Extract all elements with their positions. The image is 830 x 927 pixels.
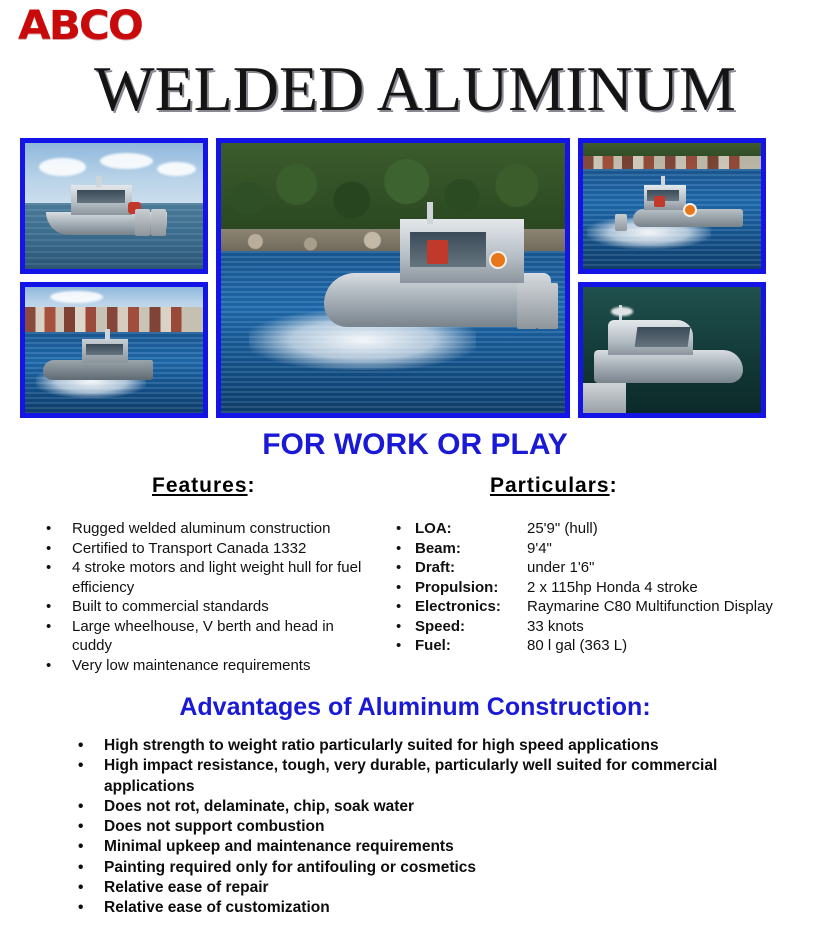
page-subtitle: FOR WORK OR PLAY [0,428,830,462]
list-item: •Certified to Transport Canada 1332 [46,539,376,559]
list-item: •High impact resistance, tough, very dur… [78,756,778,797]
feature-text: Very low maintenance requirements [72,656,376,676]
cabin-window [86,344,123,355]
spec-value: Raymarine C80 Multifunction Display [527,597,816,617]
spec-label: Beam: [415,539,527,559]
spec-value: 80 l gal (363 L) [527,636,816,656]
person-figure [654,196,665,207]
photo-scene [583,143,761,269]
spec-value: 9'4" [527,539,816,559]
spec-value: 25'9" (hull) [527,519,816,539]
dock-edge [583,383,626,413]
photo-scene [25,287,203,413]
spec-label: Speed: [415,617,527,637]
photo-boat-moored-twin-outboards [20,138,208,274]
particulars-list: •LOA:25'9" (hull) •Beam: 9'4" •Draft:und… [396,519,816,656]
spec-label: Draft: [415,558,527,578]
advantage-text: Relative ease of repair [104,878,778,898]
photo-scene [25,143,203,269]
bullet-icon: • [46,558,72,578]
features-heading-colon: : [248,474,255,497]
page-title: WELDED ALUMINUM [0,56,830,122]
features-heading-word: Features [152,474,248,497]
list-item: •Does not support combustion [78,817,778,837]
list-item: •Relative ease of repair [78,878,778,898]
spec-value: under 1'6" [527,558,816,578]
advantage-text: Relative ease of customization [104,898,778,918]
cabin-window [77,190,125,204]
collage-column-center [216,138,570,418]
outboard-motor [615,214,627,232]
advantage-text: Does not support combustion [104,817,778,837]
list-item: •High strength to weight ratio particula… [78,736,778,756]
list-item: •Very low maintenance requirements [46,656,376,676]
abco-logo: ABCO [18,4,142,48]
photo-collage [20,138,782,418]
advantage-text: High strength to weight ratio particular… [104,736,778,756]
cloud-shape [157,162,196,176]
spec-row: •Beam: 9'4" [396,539,816,559]
feature-text: Large wheelhouse, V berth and head in cu… [72,617,376,656]
list-item: •Painting required only for antifouling … [78,858,778,878]
advantage-text: Painting required only for antifouling o… [104,858,778,878]
bullet-icon: • [396,597,415,617]
bullet-icon: • [46,597,72,617]
bullet-icon: • [78,837,104,857]
list-item: •Relative ease of customization [78,898,778,918]
boat-hull [43,360,153,380]
outboard-motor [517,283,538,329]
advantages-list: •High strength to weight ratio particula… [78,736,778,919]
spec-row: •Propulsion:2 x 115hp Honda 4 stroke [396,578,816,598]
bullet-icon: • [46,539,72,559]
spec-row: •LOA:25'9" (hull) [396,519,816,539]
spec-row: •Fuel:80 l gal (363 L) [396,636,816,656]
list-item: •Minimal upkeep and maintenance requirem… [78,837,778,857]
list-item: •Built to commercial standards [46,597,376,617]
photo-boat-running-harbour-town [20,282,208,418]
spec-row: •Draft:under 1'6" [396,558,816,578]
bullet-icon: • [396,519,415,539]
bullet-icon: • [46,519,72,539]
town-shoreline [25,307,203,335]
feature-text: Rugged welded aluminum construction [72,519,376,539]
photo-boat-at-dock-bow-view [578,282,766,418]
bullet-icon: • [78,878,104,898]
cabin-window [410,232,486,267]
features-list: •Rugged welded aluminum construction •Ce… [46,519,376,675]
feature-text: Certified to Transport Canada 1332 [72,539,376,559]
antenna-mast [96,176,101,187]
advantage-text: Does not rot, delaminate, chip, soak wat… [104,797,778,817]
spec-label: Fuel: [415,636,527,656]
spec-row: •Electronics: Raymarine C80 Multifunctio… [396,597,816,617]
list-item: •Rugged welded aluminum construction [46,519,376,539]
bullet-icon: • [78,817,104,837]
list-item: •Does not rot, delaminate, chip, soak wa… [78,797,778,817]
list-item: • 4 stroke motors and light weight hull … [46,558,376,597]
bullet-icon: • [396,578,415,598]
photo-boat-underway-rocky-shore [216,138,570,418]
bullet-icon: • [46,656,72,676]
advantage-text: High impact resistance, tough, very dura… [104,756,778,797]
radar-dome [611,307,632,316]
feature-text: 4 stroke motors and light weight hull fo… [72,558,376,597]
features-heading: Features: [152,474,255,498]
person-figure [427,240,448,264]
spec-label: LOA: [415,519,527,539]
photo-scene [583,287,761,413]
collage-column-left [20,138,208,418]
outboard-motor [151,209,165,237]
bullet-icon: • [78,756,104,776]
spec-label: Electronics: [415,597,527,617]
photo-boat-planing-wake [578,138,766,274]
bullet-icon: • [78,736,104,756]
bullet-icon: • [396,558,415,578]
antenna-mast [661,176,665,186]
cloud-shape [39,158,85,176]
particulars-heading-word: Particulars [490,474,610,497]
outboard-motor [135,209,149,237]
spec-row: •Speed:33 knots [396,617,816,637]
town-shoreline [583,156,761,171]
advantages-heading: Advantages of Aluminum Construction: [0,692,830,722]
antenna-mast [427,202,433,224]
list-item: •Large wheelhouse, V berth and head in c… [46,617,376,656]
bullet-icon: • [46,617,72,637]
spec-label: Propulsion: [415,578,527,598]
cabin-window [635,327,691,347]
particulars-heading: Particulars: [490,474,617,498]
bullet-icon: • [78,797,104,817]
spec-value: 33 knots [527,617,816,637]
bullet-icon: • [396,539,415,559]
particulars-heading-colon: : [610,474,617,497]
advantage-text: Minimal upkeep and maintenance requireme… [104,837,778,857]
bullet-icon: • [78,858,104,878]
bullet-icon: • [78,898,104,918]
antenna-mast [105,329,109,340]
outboard-motor [537,283,558,329]
bullet-icon: • [396,636,415,656]
photo-scene [221,143,565,413]
spec-value: 2 x 115hp Honda 4 stroke [527,578,816,598]
bullet-icon: • [396,617,415,637]
feature-text: Built to commercial standards [72,597,376,617]
collage-column-right [578,138,766,418]
